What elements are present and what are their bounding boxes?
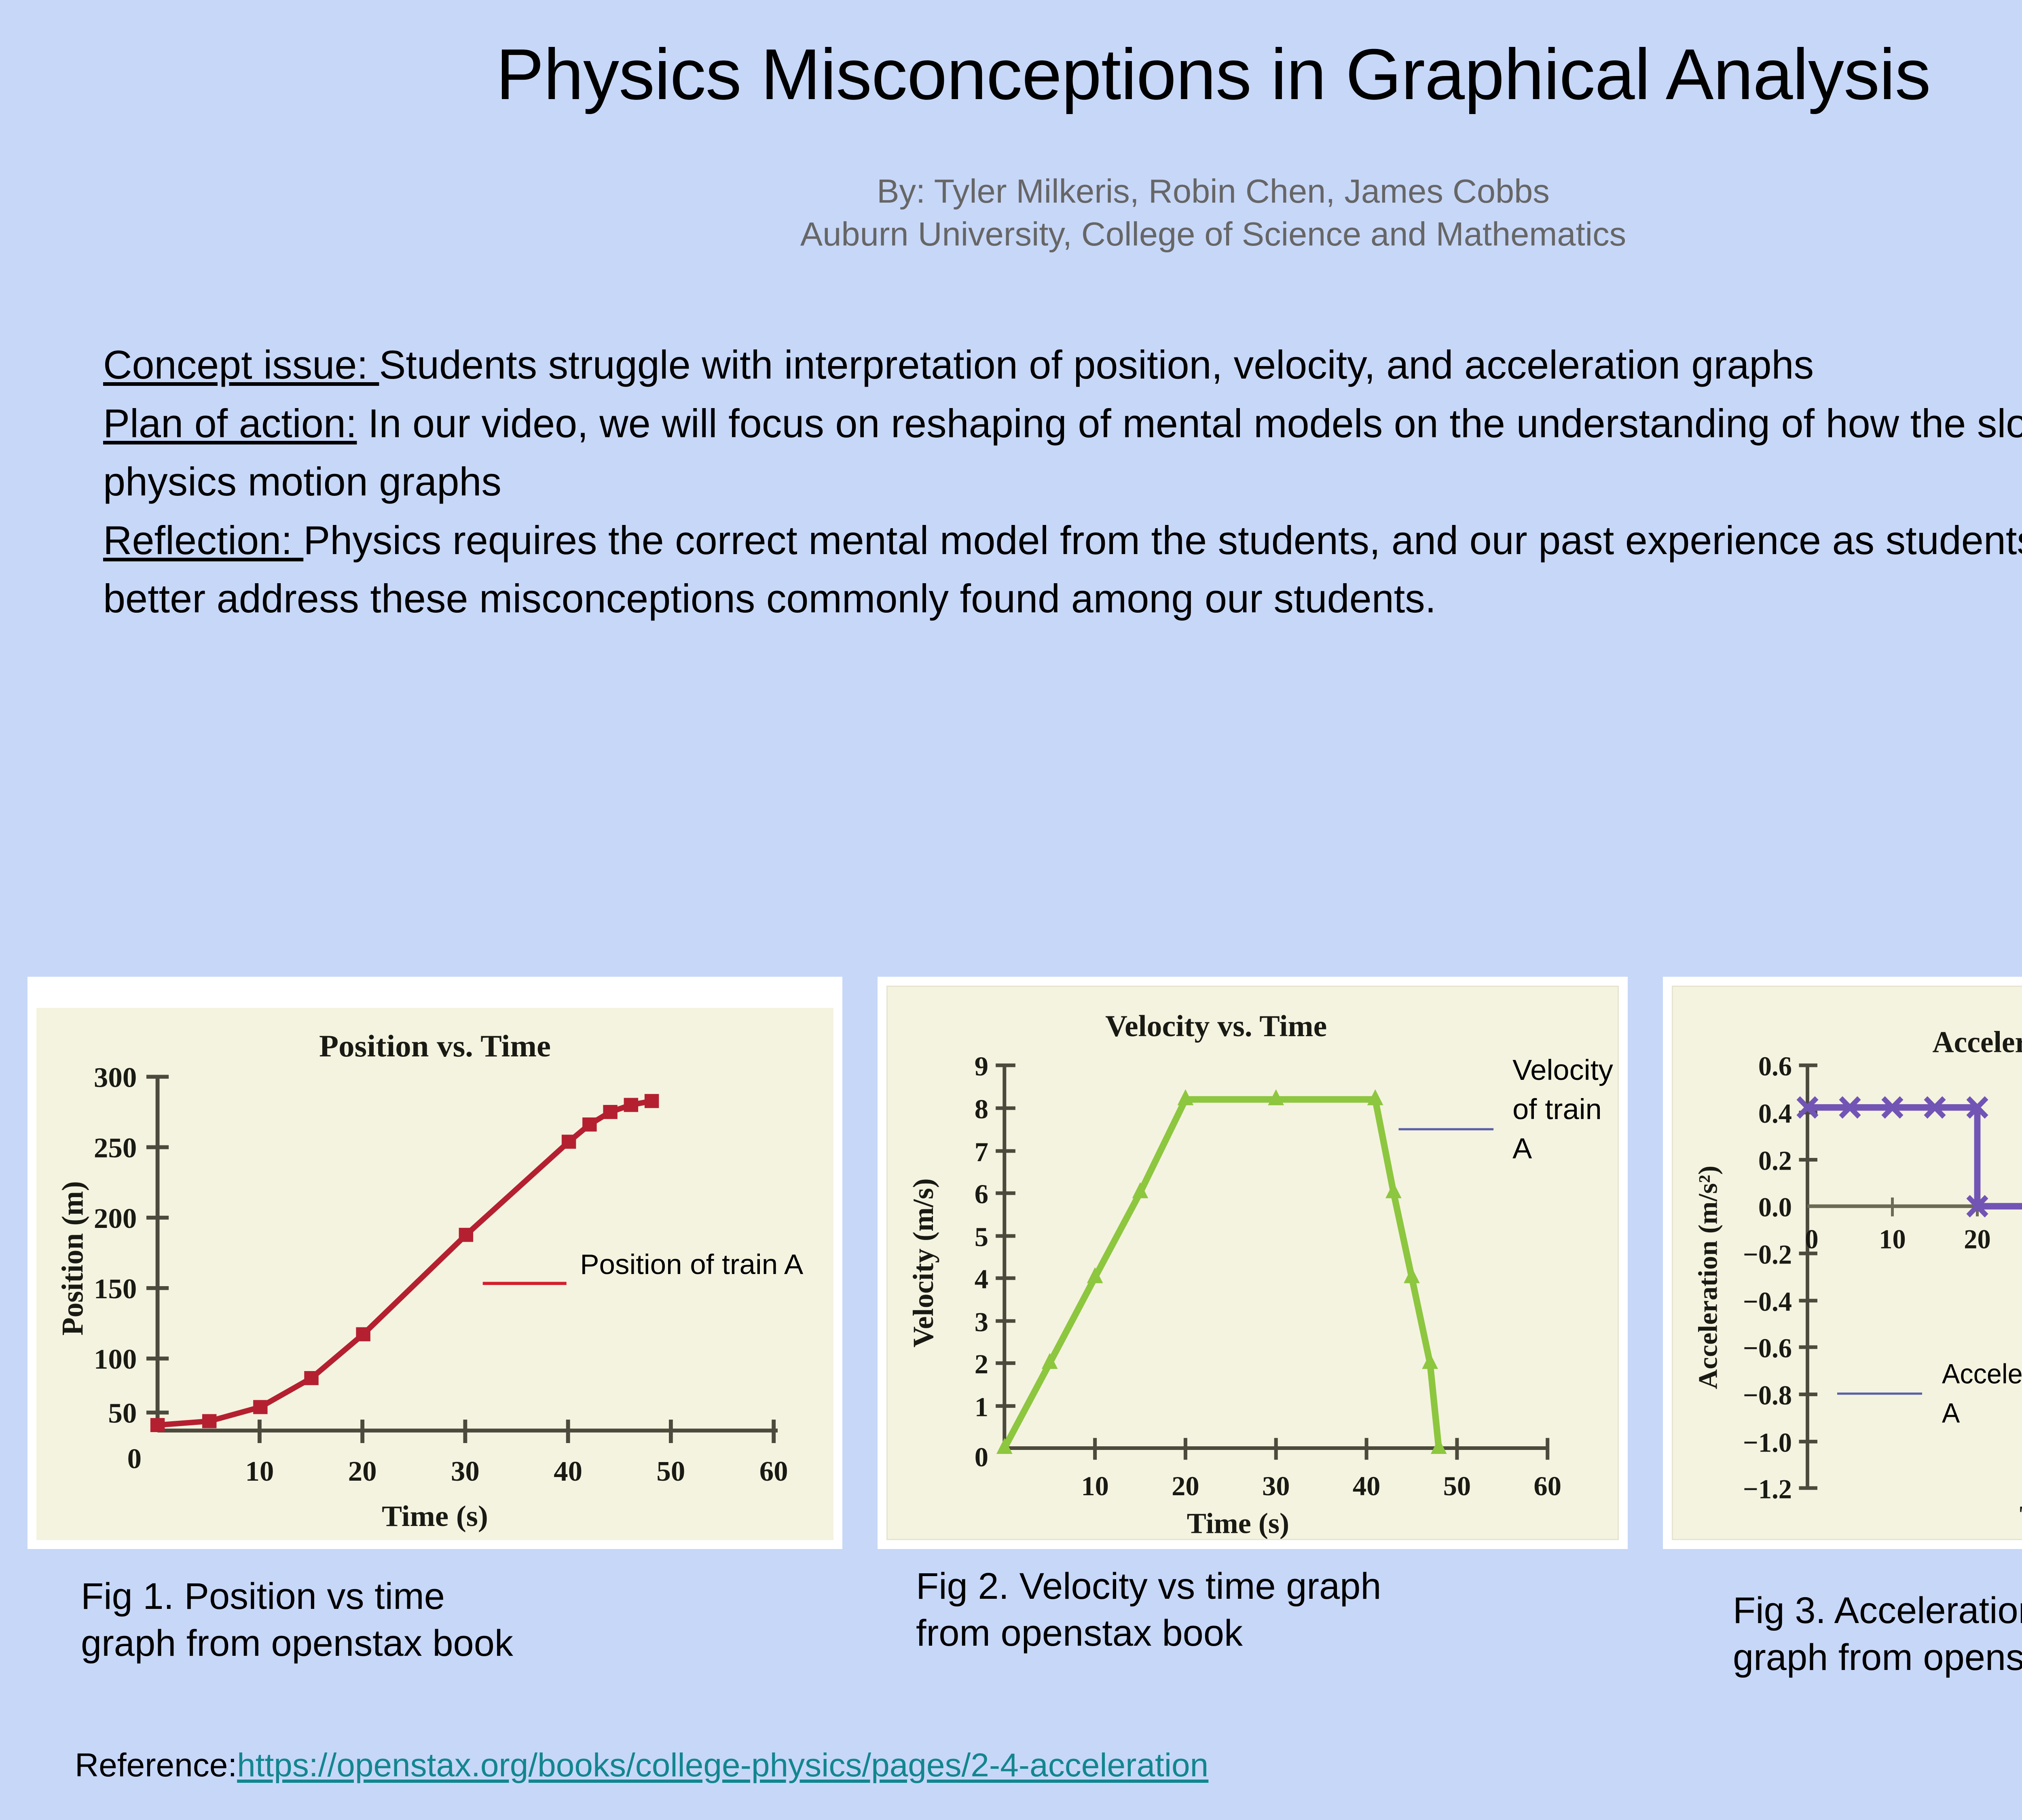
reference-label: Reference:	[75, 1747, 237, 1784]
chart3-ylabel: Acceleration (m/s²)	[1693, 1166, 1723, 1389]
chart1-origin: 0	[127, 1443, 142, 1475]
chart3-ytick-0-6: 0.6	[1758, 1051, 1792, 1081]
figure-card-acceleration: Acceleration vs. Time 0.6 0.4 0.2	[1663, 977, 2022, 1549]
svg-text:Acceleration of train: Acceleration of train	[1942, 1359, 2022, 1390]
chart2-xtick-10: 10	[1081, 1471, 1109, 1501]
chart3-ytick-n0-8: −0.8	[1743, 1380, 1792, 1411]
chart1-xtick-60: 60	[759, 1456, 788, 1487]
concept-paragraph: Concept issue: Students struggle with in…	[103, 336, 2022, 394]
chart2-title: Velocity vs. Time	[1105, 1009, 1327, 1043]
chart2-xtick-50: 50	[1443, 1471, 1471, 1501]
chart1-ylabel: Position (m)	[56, 1181, 90, 1335]
reflection-label: Reflection:	[103, 518, 303, 563]
chart1-ytick-100: 100	[94, 1344, 137, 1375]
chart2-ytick-8: 8	[975, 1094, 988, 1124]
svg-text:A: A	[1512, 1132, 1532, 1165]
chart2-markers	[996, 1089, 1447, 1454]
chart3-xtick-10: 10	[1879, 1224, 1906, 1255]
chart1-xlabel: Time (s)	[382, 1500, 488, 1533]
figure-image-acceleration: Acceleration vs. Time 0.6 0.4 0.2	[1672, 986, 2022, 1540]
chart1-xtick-20: 20	[348, 1456, 377, 1487]
velocity-vs-time-chart: Velocity vs. Time 9 8 7 6 5 4	[888, 987, 1618, 1539]
reference-line: Reference:https://openstax.org/books/col…	[75, 1746, 1208, 1784]
chart1-title: Position vs. Time	[319, 1029, 551, 1063]
concept-text: Students struggle with interpretation of…	[379, 342, 1814, 387]
chart3-legend-label: Acceleration of train A	[1942, 1359, 2022, 1429]
chart3-ytick-n1-2: −1.2	[1743, 1474, 1792, 1505]
chart1-xtick-40: 40	[554, 1456, 582, 1487]
svg-text:Velocity: Velocity	[1512, 1054, 1613, 1086]
reference-link[interactable]: https://openstax.org/books/college-physi…	[237, 1747, 1208, 1784]
plan-label: Plan of action:	[103, 401, 357, 446]
figure-image-velocity: Velocity vs. Time 9 8 7 6 5 4	[886, 986, 1619, 1540]
byline-block: By: Tyler Milkeris, Robin Chen, James Co…	[0, 170, 2022, 256]
chart3-ytick-n1-0: −1.0	[1743, 1427, 1792, 1458]
body-text-block: Concept issue: Students struggle with in…	[103, 336, 2022, 628]
plan-paragraph: Plan of action: In our video, we will fo…	[103, 394, 2022, 511]
figure-card-velocity: Velocity vs. Time 9 8 7 6 5 4	[878, 977, 1628, 1549]
chart1-legend-label: Position of train A	[580, 1249, 803, 1280]
chart2-legend-label: Velocity of train A	[1512, 1054, 1613, 1165]
figure-caption-1: Fig 1. Position vs time graph from opens…	[81, 1573, 849, 1667]
chart3-ytick-0-4: 0.4	[1758, 1098, 1792, 1129]
chart2-ytick-7: 7	[975, 1136, 988, 1167]
chart1-ytick-150: 150	[94, 1274, 137, 1305]
chart2-xtick-20: 20	[1172, 1471, 1199, 1501]
chart3-ytick-0-0: 0.0	[1758, 1192, 1792, 1223]
chart2-xlabel: Time (s)	[1187, 1507, 1289, 1539]
chart1-xtick-10: 10	[245, 1456, 274, 1487]
figure-caption-2: Fig 2. Velocity vs time graph from opens…	[916, 1563, 1644, 1657]
chart3-xtick-20: 20	[1964, 1224, 1990, 1255]
chart1-xtick-30: 30	[451, 1456, 480, 1487]
chart1-ytick-200: 200	[94, 1203, 137, 1234]
chart2-ytick-5: 5	[975, 1221, 988, 1252]
figure-card-position: Position vs. Time 300 250 200 150 100 50…	[27, 977, 842, 1549]
figure-caption-3: Fig 3. Acceleration vs time graph from o…	[1733, 1587, 2022, 1681]
chart2-ylabel: Velocity (m/s)	[907, 1178, 939, 1347]
chart3-markers	[1798, 1098, 2022, 1462]
acceleration-vs-time-chart: Acceleration vs. Time 0.6 0.4 0.2	[1673, 987, 2022, 1539]
chart2-xtick-60: 60	[1533, 1471, 1561, 1501]
chart2-xtick-30: 30	[1262, 1471, 1290, 1501]
authors-line: By: Tyler Milkeris, Robin Chen, James Co…	[0, 170, 2022, 213]
svg-text:A: A	[1942, 1398, 1960, 1429]
chart1-ytick-300: 300	[94, 1062, 137, 1093]
concept-label: Concept issue:	[103, 342, 379, 387]
chart3-xtick-0: 0	[1805, 1224, 1818, 1255]
reflection-text: Physics requires the correct mental mode…	[103, 518, 2022, 621]
page-title: Physics Misconceptions in Graphical Anal…	[0, 38, 2022, 110]
chart3-ytick-n0-6: −0.6	[1743, 1333, 1792, 1363]
chart2-xtick-40: 40	[1353, 1471, 1381, 1501]
chart1-ytick-250: 250	[94, 1132, 137, 1164]
chart2-ytick-9: 9	[975, 1051, 988, 1081]
chart3-ytick-0-2: 0.2	[1758, 1145, 1792, 1176]
chart1-xtick-50: 50	[656, 1456, 685, 1487]
chart2-ytick-0: 0	[975, 1442, 988, 1473]
chart2-ytick-2: 2	[975, 1349, 988, 1380]
chart3-ytick-n0-2: −0.2	[1743, 1239, 1792, 1270]
figure-image-position: Position vs. Time 300 250 200 150 100 50…	[36, 1008, 833, 1540]
chart2-ytick-4: 4	[975, 1264, 988, 1295]
reflection-paragraph: Reflection: Physics requires the correct…	[103, 511, 2022, 628]
chart3-xlabel: Time (s)	[2020, 1500, 2022, 1532]
position-vs-time-chart: Position vs. Time 300 250 200 150 100 50…	[36, 1008, 833, 1540]
chart2-ytick-6: 6	[975, 1179, 988, 1209]
chart1-ytick-50: 50	[108, 1398, 137, 1429]
svg-text:of train: of train	[1512, 1093, 1602, 1126]
plan-text: In our video, we will focus on reshaping…	[103, 401, 2022, 504]
chart3-ytick-n0-4: −0.4	[1743, 1286, 1792, 1317]
chart3-title: Acceleration vs. Time	[1933, 1026, 2022, 1059]
chart2-ytick-1: 1	[975, 1392, 988, 1422]
affiliation-line: Auburn University, College of Science an…	[0, 213, 2022, 256]
chart2-ytick-3: 3	[975, 1306, 988, 1337]
